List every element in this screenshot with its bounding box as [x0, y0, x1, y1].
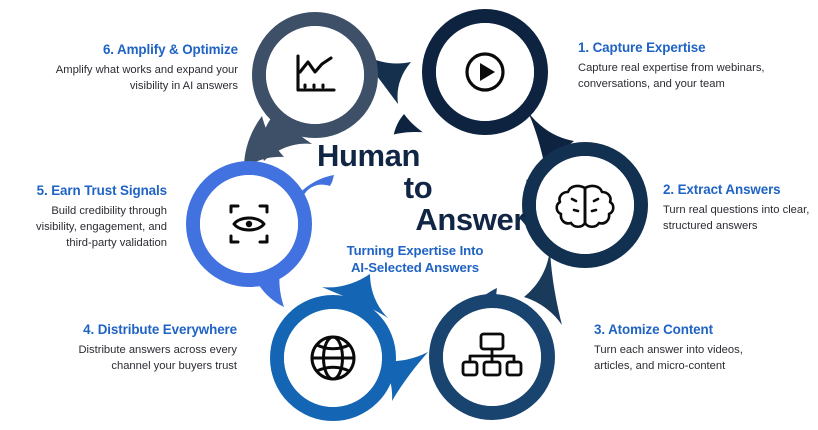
node-step-4[interactable] [277, 302, 389, 414]
step-1-desc: Capture real expertise from webinars, co… [578, 61, 773, 93]
node-step-3[interactable] [436, 301, 548, 413]
step-6-desc: Amplify what works and expand your visib… [50, 63, 238, 95]
step-1-title: 1. Capture Expertise [578, 40, 773, 56]
step-3-desc: Turn each answer into videos, articles, … [594, 343, 779, 375]
step-2-desc: Turn real questions into clear, structur… [663, 203, 813, 235]
node-step-2[interactable] [529, 149, 641, 261]
step-5-desc: Build credibility through visibility, en… [12, 204, 167, 252]
center-hub-shape [299, 132, 529, 273]
step-4-title: 4. Distribute Everywhere [44, 322, 237, 338]
step-4-desc: Distribute answers across every channel … [44, 343, 237, 375]
step-label-4[interactable]: 4. Distribute Everywhere Distribute answ… [44, 322, 237, 375]
step-label-6[interactable]: 6. Amplify & Optimize Amplify what works… [50, 42, 238, 95]
step-label-5[interactable]: 5. Earn Trust Signals Build credibility … [12, 183, 167, 252]
infographic-canvas: Human to Answer Turning Expertise Into A… [0, 0, 818, 430]
step-label-1[interactable]: 1. Capture Expertise Capture real expert… [578, 40, 773, 93]
ring-inner-fill-6 [266, 26, 364, 124]
step-3-title: 3. Atomize Content [594, 322, 779, 338]
step-5-title: 5. Earn Trust Signals [12, 183, 167, 199]
node-step-5[interactable] [193, 168, 305, 280]
step-2-title: 2. Extract Answers [663, 182, 813, 198]
step-6-title: 6. Amplify & Optimize [50, 42, 238, 58]
step-label-3[interactable]: 3. Atomize Content Turn each answer into… [594, 322, 779, 375]
node-step-6[interactable] [259, 19, 371, 131]
node-step-1[interactable] [429, 16, 541, 128]
step-label-2[interactable]: 2. Extract Answers Turn real questions i… [663, 182, 813, 235]
